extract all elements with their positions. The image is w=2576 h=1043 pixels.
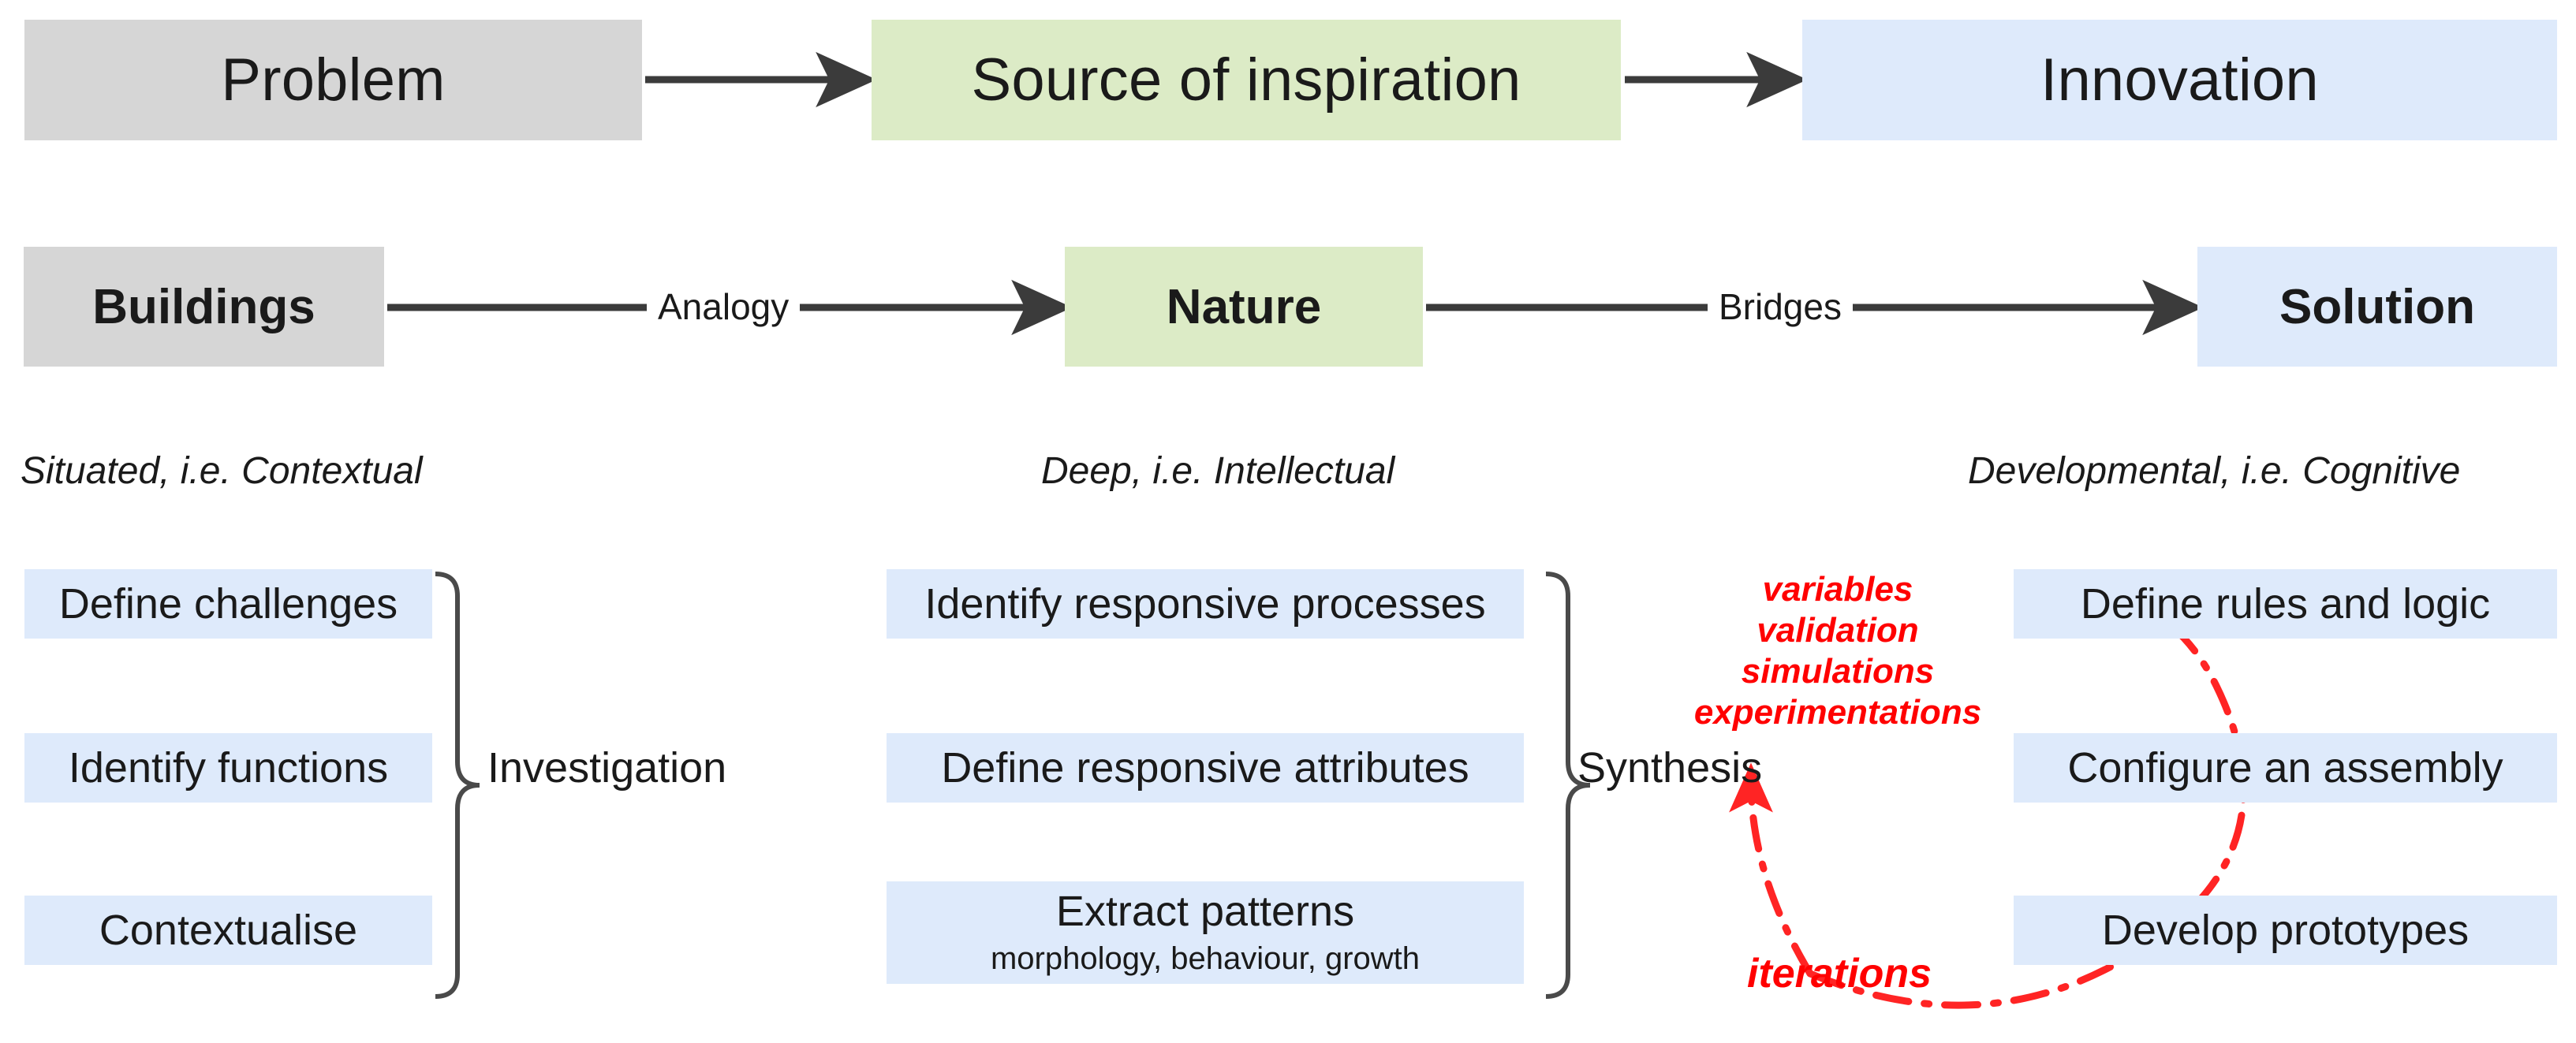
step-label: Define challenges bbox=[59, 582, 398, 627]
stage-innovation-label: Innovation bbox=[2040, 46, 2319, 114]
iteration-term-experimentations: experimentations bbox=[1672, 692, 2003, 733]
stage-nature-label: Nature bbox=[1167, 279, 1321, 335]
step-box-contextualise[interactable]: Contextualise bbox=[24, 896, 432, 965]
link-label-analogy-text: Analogy bbox=[658, 286, 789, 327]
iteration-term-variables: variables bbox=[1672, 569, 2003, 610]
step-box-develop-prototypes[interactable]: Develop prototypes bbox=[2014, 896, 2557, 965]
stage-source-of-inspiration[interactable]: Source of inspiration bbox=[872, 20, 1621, 140]
step-label: Configure an assembly bbox=[2067, 746, 2503, 791]
stage-innovation[interactable]: Innovation bbox=[1802, 20, 2557, 140]
iteration-term-simulations: simulations bbox=[1672, 651, 2003, 692]
stage-source-of-inspiration-label: Source of inspiration bbox=[971, 46, 1521, 114]
step-label: Extract patterns bbox=[1056, 889, 1354, 934]
stage-solution-label: Solution bbox=[2279, 279, 2475, 335]
stage-nature[interactable]: Nature bbox=[1065, 247, 1423, 367]
link-label-analogy: Analogy bbox=[647, 285, 800, 328]
stage-problem[interactable]: Problem bbox=[24, 20, 642, 140]
step-box-define-responsive-attributes[interactable]: Define responsive attributes bbox=[887, 733, 1524, 803]
stage-buildings-label: Buildings bbox=[92, 279, 315, 335]
iteration-term-validation: validation bbox=[1672, 610, 2003, 651]
step-label: Identify functions bbox=[69, 746, 388, 791]
iteration-label: iterations bbox=[1747, 950, 1932, 997]
step-label: Define responsive attributes bbox=[941, 746, 1469, 791]
iteration-terms-stack: variables validation simulations experim… bbox=[1672, 569, 2003, 733]
step-label: Define rules and logic bbox=[2081, 582, 2490, 627]
step-box-identify-functions[interactable]: Identify functions bbox=[24, 733, 432, 803]
step-box-define-rules-and-logic[interactable]: Define rules and logic bbox=[2014, 569, 2557, 639]
step-sublabel: morphology, behaviour, growth bbox=[991, 941, 1420, 976]
brace-investigation bbox=[435, 574, 480, 996]
brace-label-synthesis: Synthesis bbox=[1577, 743, 1762, 792]
brace-label-investigation: Investigation bbox=[487, 743, 726, 792]
stage-problem-label: Problem bbox=[221, 46, 445, 114]
step-box-define-challenges[interactable]: Define challenges bbox=[24, 569, 432, 639]
iteration-loop-arrowhead bbox=[1751, 780, 1810, 974]
link-label-bridges-text: Bridges bbox=[1719, 286, 1842, 327]
step-label: Develop prototypes bbox=[2102, 908, 2469, 953]
caption-deep: Deep, i.e. Intellectual bbox=[1041, 449, 1394, 493]
stage-solution[interactable]: Solution bbox=[2197, 247, 2557, 367]
step-box-extract-patterns[interactable]: Extract patterns morphology, behaviour, … bbox=[887, 881, 1524, 984]
step-label: Identify responsive processes bbox=[924, 582, 1485, 627]
step-box-configure-an-assembly[interactable]: Configure an assembly bbox=[2014, 733, 2557, 803]
link-label-bridges: Bridges bbox=[1708, 285, 1853, 328]
stage-buildings[interactable]: Buildings bbox=[24, 247, 384, 367]
caption-situated: Situated, i.e. Contextual bbox=[21, 449, 423, 493]
step-label: Contextualise bbox=[99, 908, 357, 953]
caption-developmental: Developmental, i.e. Cognitive bbox=[1968, 449, 2460, 493]
step-box-identify-responsive-processes[interactable]: Identify responsive processes bbox=[887, 569, 1524, 639]
diagram-canvas: Problem Source of inspiration Innovation… bbox=[0, 0, 2576, 1043]
